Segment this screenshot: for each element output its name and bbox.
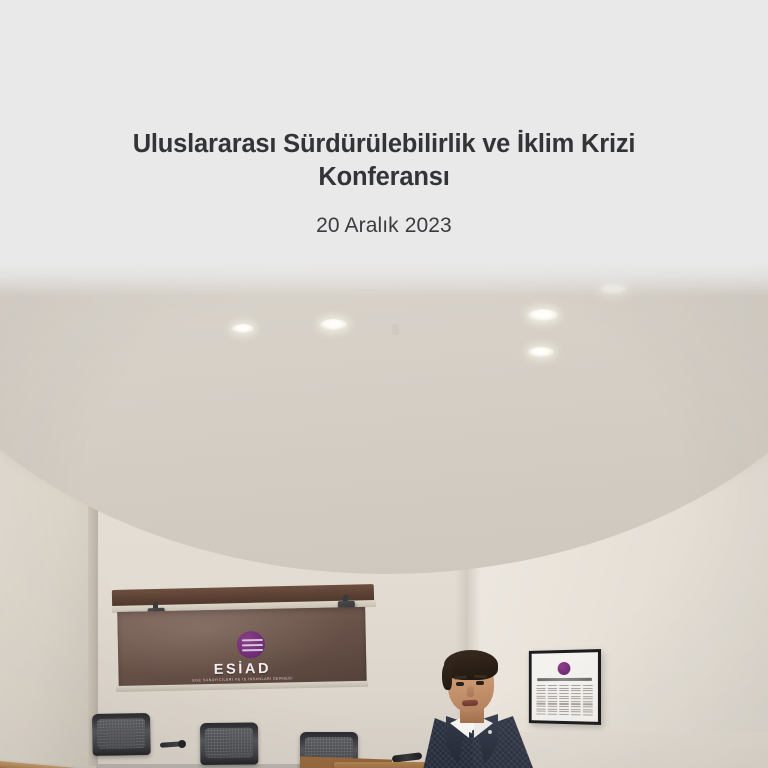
- event-date: 20 Aralık 2023: [0, 214, 768, 238]
- ceiling-downlight-icon: [232, 324, 254, 333]
- poster-header: Uluslararası Sürdürülebilirlik ve İklim …: [0, 128, 768, 238]
- eyebrow: [474, 675, 487, 679]
- ceiling-sprinkler-icon: [392, 324, 399, 335]
- ceiling-downlight-icon: [528, 347, 554, 357]
- plaque-logo-icon: [558, 662, 571, 675]
- page-title: Uluslararası Sürdürülebilirlik ve İklim …: [0, 128, 768, 193]
- plaque-title-bar: [537, 678, 592, 681]
- mouth: [462, 700, 478, 707]
- ceiling-downlight-icon: [528, 309, 558, 321]
- eye: [456, 682, 464, 686]
- lapel-pin-icon: [488, 730, 492, 734]
- photo-top-fade: [0, 262, 768, 296]
- conference-photo: ESİAD EGE SANAYİCİLERİ VE İŞ İNSANLARI D…: [0, 262, 768, 768]
- hair: [444, 650, 498, 680]
- conference-desk: [0, 738, 386, 768]
- eye: [476, 681, 484, 685]
- plaque-name-columns: [536, 685, 593, 716]
- hair-sideburn: [442, 664, 452, 690]
- speaker-person: [412, 650, 542, 768]
- ceiling-downlight-icon: [320, 319, 347, 330]
- esiad-backdrop-panel: ESİAD EGE SANAYİCİLERİ VE İŞ İNSANLARI D…: [117, 607, 367, 688]
- nose: [467, 686, 474, 697]
- conference-poster: Uluslararası Sürdürülebilirlik ve İklim …: [0, 0, 768, 768]
